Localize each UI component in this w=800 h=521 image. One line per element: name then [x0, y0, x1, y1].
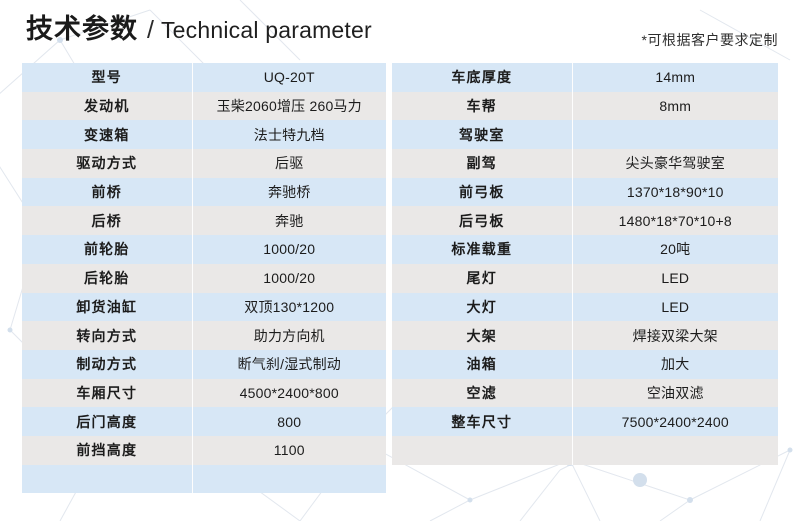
spec-value-cell: 法士特九档 [192, 120, 386, 149]
spec-value-cell: LED [572, 264, 778, 293]
spec-value-cell: 玉柴2060增压 260马力 [192, 92, 386, 121]
spec-value-cell: 空油双滤 [572, 379, 778, 408]
spec-label-cell: 制动方式 [22, 350, 192, 379]
table-row: 整车尺寸7500*2400*2400 [392, 407, 778, 436]
table-row: 车帮8mm [392, 92, 778, 121]
page-header: 技术参数 / Technical parameter *可根据客户要求定制 [0, 0, 800, 63]
table-row: 车厢尺寸4500*2400*800 [22, 379, 386, 408]
table-row: 车底厚度14mm [392, 63, 778, 92]
technical-parameter-page: 技术参数 / Technical parameter *可根据客户要求定制 型号… [0, 0, 800, 521]
spec-label-cell [392, 436, 572, 465]
spec-label-cell: 油箱 [392, 350, 572, 379]
table-row [22, 465, 386, 494]
table-row: 卸货油缸双顶130*1200 [22, 293, 386, 322]
table-row: 变速箱法士特九档 [22, 120, 386, 149]
spec-value-cell: 双顶130*1200 [192, 293, 386, 322]
spec-label-cell: 前弓板 [392, 178, 572, 207]
table-row: 驾驶室 [392, 120, 778, 149]
spec-value-cell: 助力方向机 [192, 321, 386, 350]
table-row: 驱动方式后驱 [22, 149, 386, 178]
table-row: 后桥奔驰 [22, 206, 386, 235]
page-title-separator: / [147, 18, 154, 43]
spec-label-cell: 转向方式 [22, 321, 192, 350]
spec-value-cell: LED [572, 293, 778, 322]
spec-label-cell: 型号 [22, 63, 192, 92]
table-row: 发动机玉柴2060增压 260马力 [22, 92, 386, 121]
spec-value-cell: 焊接双梁大架 [572, 321, 778, 350]
table-row: 大灯LED [392, 293, 778, 322]
spec-table-right-body: 车底厚度14mm车帮8mm驾驶室副驾尖头豪华驾驶室前弓板1370*18*90*1… [392, 63, 778, 465]
table-row [392, 436, 778, 465]
spec-value-cell: UQ-20T [192, 63, 386, 92]
table-row: 制动方式断气刹/湿式制动 [22, 350, 386, 379]
spec-value-cell: 1370*18*90*10 [572, 178, 778, 207]
table-row: 前挡高度1100 [22, 436, 386, 465]
spec-label-cell: 尾灯 [392, 264, 572, 293]
spec-label-cell: 前挡高度 [22, 436, 192, 465]
spec-value-cell [572, 120, 778, 149]
spec-label-cell: 大架 [392, 321, 572, 350]
table-row: 油箱加大 [392, 350, 778, 379]
spec-label-cell: 驱动方式 [22, 149, 192, 178]
spec-label-cell: 后轮胎 [22, 264, 192, 293]
page-title-english: Technical parameter [161, 19, 372, 42]
spec-value-cell: 14mm [572, 63, 778, 92]
spec-table-left-body: 型号UQ-20T发动机玉柴2060增压 260马力变速箱法士特九档驱动方式后驱前… [22, 63, 386, 493]
spec-label-cell: 空滤 [392, 379, 572, 408]
spec-value-cell: 奔驰 [192, 206, 386, 235]
table-row: 转向方式助力方向机 [22, 321, 386, 350]
table-row: 副驾尖头豪华驾驶室 [392, 149, 778, 178]
table-row: 后门高度800 [22, 407, 386, 436]
spec-label-cell: 车底厚度 [392, 63, 572, 92]
spec-value-cell: 1480*18*70*10+8 [572, 206, 778, 235]
spec-label-cell [22, 465, 192, 494]
table-row: 后轮胎1000/20 [22, 264, 386, 293]
spec-label-cell: 整车尺寸 [392, 407, 572, 436]
spec-label-cell: 前轮胎 [22, 235, 192, 264]
spec-value-cell [192, 465, 386, 494]
spec-value-cell: 加大 [572, 350, 778, 379]
table-row: 前弓板1370*18*90*10 [392, 178, 778, 207]
spec-value-cell: 8mm [572, 92, 778, 121]
spec-value-cell [572, 436, 778, 465]
page-title-chinese: 技术参数 [26, 16, 138, 43]
spec-label-cell: 发动机 [22, 92, 192, 121]
spec-label-cell: 后门高度 [22, 407, 192, 436]
spec-label-cell: 驾驶室 [392, 120, 572, 149]
spec-label-cell: 卸货油缸 [22, 293, 192, 322]
table-row: 尾灯LED [392, 264, 778, 293]
table-row: 前桥奔驰桥 [22, 178, 386, 207]
spec-value-cell: 后驱 [192, 149, 386, 178]
table-row: 大架焊接双梁大架 [392, 321, 778, 350]
spec-label-cell: 大灯 [392, 293, 572, 322]
table-row: 标准载重20吨 [392, 235, 778, 264]
spec-value-cell: 尖头豪华驾驶室 [572, 149, 778, 178]
spec-table-left: 型号UQ-20T发动机玉柴2060增压 260马力变速箱法士特九档驱动方式后驱前… [22, 63, 386, 493]
spec-label-cell: 车帮 [392, 92, 572, 121]
spec-value-cell: 4500*2400*800 [192, 379, 386, 408]
spec-value-cell: 1000/20 [192, 264, 386, 293]
table-row: 空滤空油双滤 [392, 379, 778, 408]
spec-table-right: 车底厚度14mm车帮8mm驾驶室副驾尖头豪华驾驶室前弓板1370*18*90*1… [392, 63, 778, 465]
table-row: 后弓板1480*18*70*10+8 [392, 206, 778, 235]
table-row: 型号UQ-20T [22, 63, 386, 92]
spec-label-cell: 副驾 [392, 149, 572, 178]
spec-label-cell: 后弓板 [392, 206, 572, 235]
spec-value-cell: 20吨 [572, 235, 778, 264]
customization-note: *可根据客户要求定制 [642, 30, 778, 50]
spec-label-cell: 前桥 [22, 178, 192, 207]
spec-value-cell: 800 [192, 407, 386, 436]
spec-label-cell: 标准载重 [392, 235, 572, 264]
spec-value-cell: 断气刹/湿式制动 [192, 350, 386, 379]
page-title: 技术参数 / Technical parameter [26, 16, 372, 43]
spec-label-cell: 车厢尺寸 [22, 379, 192, 408]
spec-value-cell: 奔驰桥 [192, 178, 386, 207]
table-row: 前轮胎1000/20 [22, 235, 386, 264]
spec-value-cell: 7500*2400*2400 [572, 407, 778, 436]
spec-label-cell: 变速箱 [22, 120, 192, 149]
spec-label-cell: 后桥 [22, 206, 192, 235]
spec-value-cell: 1000/20 [192, 235, 386, 264]
spec-value-cell: 1100 [192, 436, 386, 465]
